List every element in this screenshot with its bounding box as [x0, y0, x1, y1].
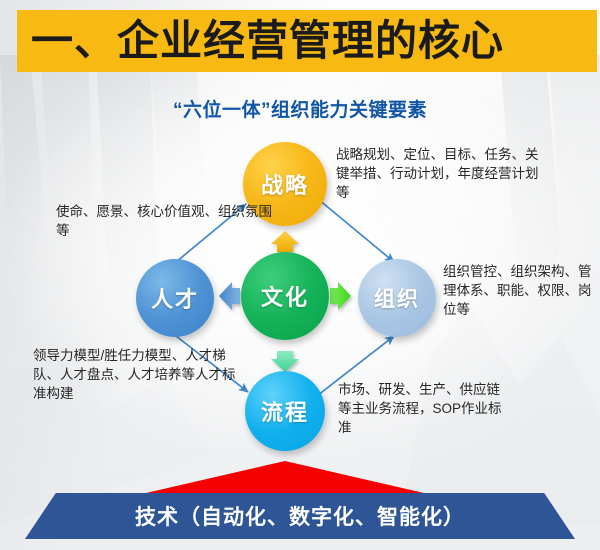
note-talent: 领导力模型/胜任力模型、人才梯队、人才盘点、人才培养等人才标准构建 [33, 346, 238, 403]
arrow-down-process [271, 351, 299, 372]
node-talent[interactable]: 人才 [136, 259, 214, 337]
slide-canvas: 一、企业经营管理的核心 “六位一体”组织能力关键要素 [0, 0, 600, 550]
technology-foundation-banner: 技术（自动化、数字化、智能化） [25, 493, 575, 539]
node-process-label: 流程 [261, 395, 309, 427]
note-strategy: 战略规划、定位、目标、任务、关键举措、行动计划，年度经营计划等 [336, 145, 546, 202]
technology-foundation-label: 技术（自动化、数字化、智能化） [135, 501, 465, 531]
node-organization-label: 组织 [374, 283, 420, 313]
note-process: 市场、研发、生产、供应链等主业务流程，SOP作业标准 [338, 380, 508, 437]
node-process[interactable]: 流程 [245, 371, 325, 451]
note-organization: 组织管控、组织架构、管理体系、职能、权限、岗位等 [443, 262, 593, 319]
technology-base-arrow [146, 461, 424, 493]
node-organization[interactable]: 组织 [358, 259, 436, 337]
node-culture[interactable]: 文化 [241, 252, 329, 340]
node-culture-label: 文化 [261, 280, 309, 312]
arrow-right-org [330, 282, 351, 310]
note-culture: 使命、愿景、核心价值观、组织氛围等 [56, 202, 276, 240]
node-strategy-label: 战略 [261, 168, 309, 200]
arrow-left-talent [219, 282, 240, 310]
node-talent-label: 人才 [151, 282, 199, 314]
connector-strategy-org [324, 204, 394, 262]
